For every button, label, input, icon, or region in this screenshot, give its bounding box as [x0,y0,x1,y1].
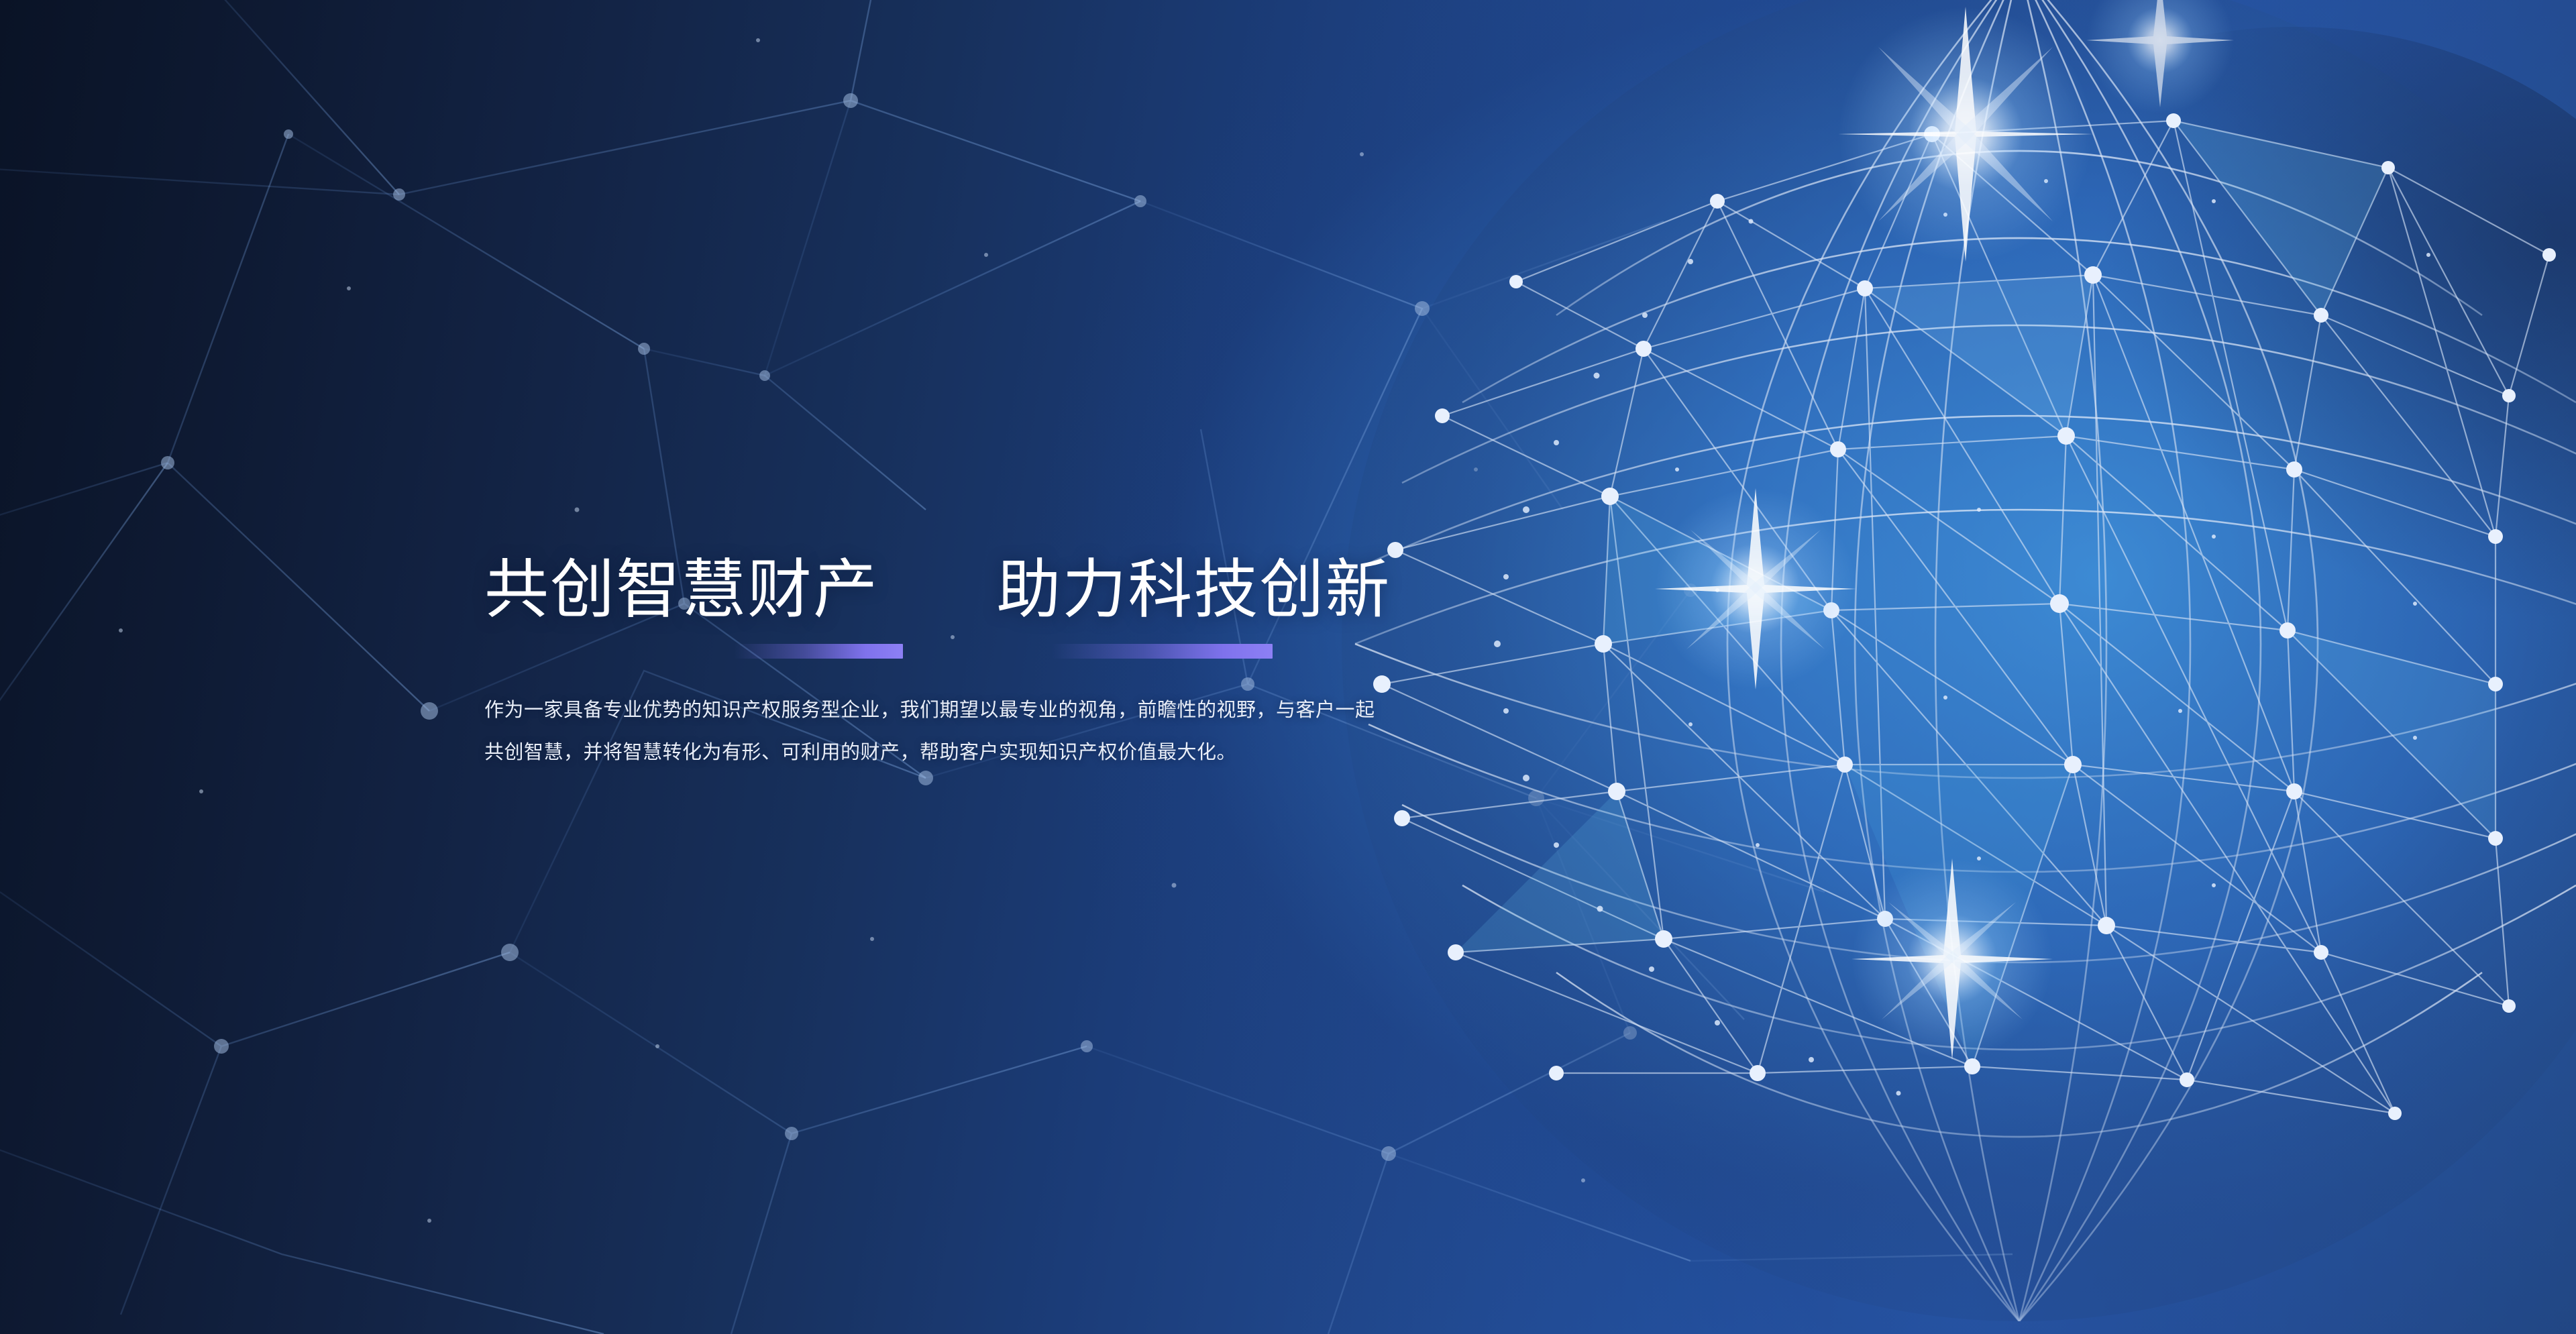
headline-segment-1-text: 共创智慧财产 [484,554,879,626]
lens-flare-corner [2086,0,2234,114]
lens-flare-mid [1655,488,1856,689]
headline-segment-2: 助力科技创新 [996,554,1391,626]
headline-segment-1: 共创智慧财产 [484,554,879,626]
page-title: 共创智慧财产 助力科技创新 [484,554,1424,626]
lens-flare-bottom [1851,858,2053,1060]
headline-underline-2 [1051,644,1273,659]
hero-banner: 共创智慧财产 助力科技创新 作为一家具备专业优势的知识产权服务型企业，我们期望以… [0,0,2576,1334]
hero-copy: 共创智慧财产 助力科技创新 作为一家具备专业优势的知识产权服务型企业，我们期望以… [484,554,1424,793]
headline-underline-1 [734,644,903,659]
hero-description: 作为一家具备专业优势的知识产权服务型企业，我们期望以最专业的视角，前瞻性的视野，… [484,689,1387,774]
lens-flare-top [1838,7,2093,262]
headline-segment-2-text: 助力科技创新 [996,554,1391,626]
